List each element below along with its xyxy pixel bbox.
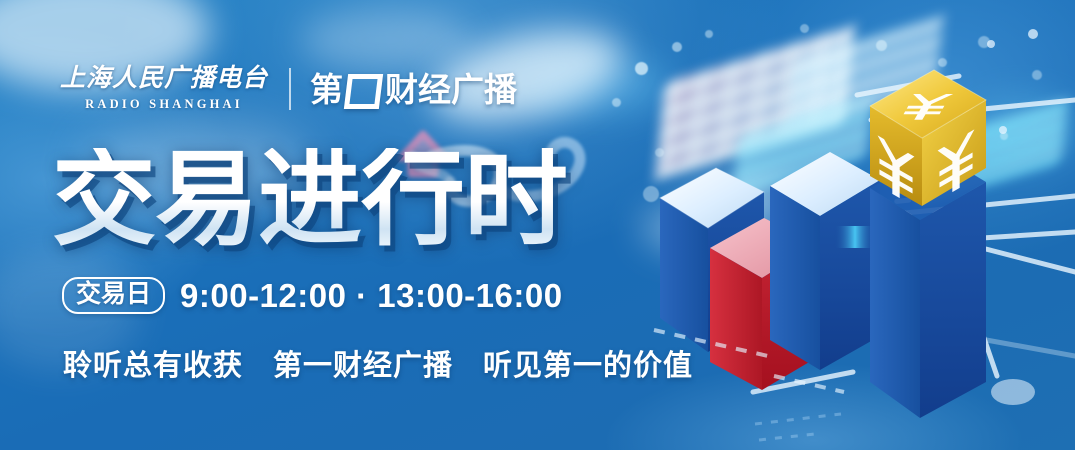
radio-program-banner: 上海人民广播电台 RADIO SHANGHAI 第 财经广播 交易进行时 交易日… (0, 0, 1075, 450)
station-logo[interactable]: 上海人民广播电台 RADIO SHANGHAI (60, 66, 268, 112)
program-tagline: 聆听总有收获 第一财经广播 听见第一的价值 (63, 352, 693, 381)
logo-divider (289, 68, 291, 110)
channel-logo[interactable]: 第 财经广播 (310, 72, 517, 107)
channel-square-mark-icon (344, 74, 383, 109)
channel-suffix: 财经广播 (385, 73, 517, 106)
isometric-bar-chart-graphic (648, 40, 1048, 450)
logo-row: 上海人民广播电台 RADIO SHANGHAI 第 财经广播 (60, 60, 517, 118)
station-name-cn: 上海人民广播电台 (60, 66, 268, 91)
broadcast-times: 9:00-12:00 · 13:00-16:00 (180, 279, 563, 312)
chart-bar-3 (770, 152, 880, 370)
schedule-row: 交易日 9:00-12:00 · 13:00-16:00 (62, 277, 563, 314)
station-name-en: RADIO SHANGHAI (85, 97, 243, 112)
channel-prefix: 第 (310, 73, 343, 106)
program-title: 交易进行时 (52, 148, 567, 252)
trading-day-badge: 交易日 (62, 277, 165, 314)
